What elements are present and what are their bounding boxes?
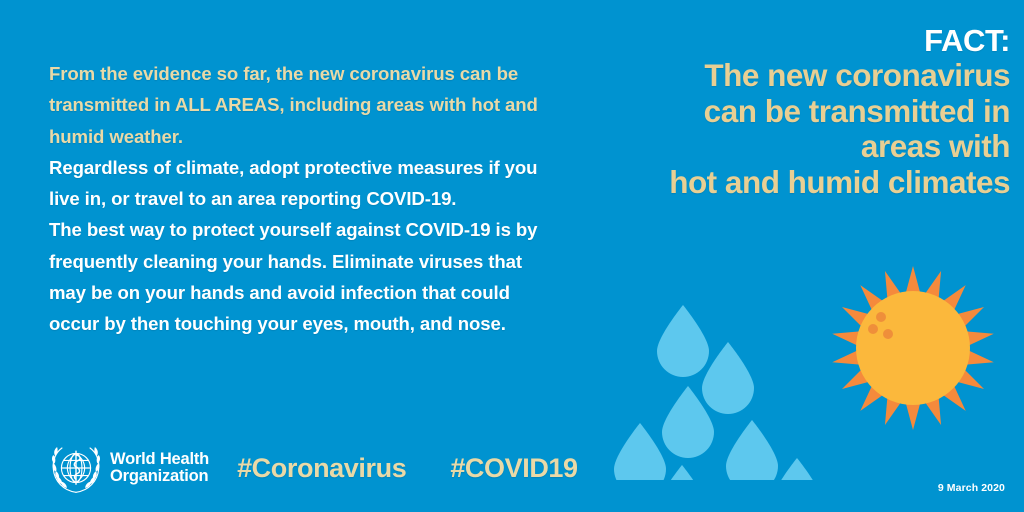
who-wordmark: World Health Organization bbox=[110, 451, 209, 486]
who-emblem-icon bbox=[49, 441, 103, 495]
sun-spot-dot bbox=[876, 312, 886, 322]
headline-block: FACT: The new coronavirus can be transmi… bbox=[570, 24, 1010, 200]
raindrop-group bbox=[614, 305, 823, 480]
raindrop-icon bbox=[702, 342, 754, 414]
headline-line-1: The new coronavirus bbox=[570, 58, 1010, 94]
who-wordmark-line-2: Organization bbox=[110, 468, 209, 486]
body-copy-block: From the evidence so far, the new corona… bbox=[49, 58, 549, 340]
hashtag-covid19[interactable]: #COVID19 bbox=[450, 453, 577, 484]
headline-line-3: areas with bbox=[570, 129, 1010, 165]
who-logo-lockup: World Health Organization bbox=[49, 441, 209, 495]
who-fact-infographic: From the evidence so far, the new corona… bbox=[0, 0, 1024, 512]
body-paragraph-1: From the evidence so far, the new corona… bbox=[49, 58, 549, 152]
footer-bar: World Health Organization #Coronavirus #… bbox=[49, 441, 578, 495]
raindrop-icon bbox=[726, 420, 778, 480]
body-paragraph-2: Regardless of climate, adopt protective … bbox=[49, 152, 549, 215]
raindrop-icon bbox=[771, 458, 823, 480]
hashtag-coronavirus[interactable]: #Coronavirus bbox=[237, 453, 406, 484]
fact-label: FACT: bbox=[570, 24, 1010, 58]
weather-illustration bbox=[600, 210, 1024, 480]
sun-disc bbox=[856, 291, 970, 405]
sun-icon bbox=[832, 266, 994, 430]
raindrop-icon bbox=[614, 423, 666, 480]
sun-spot-dot bbox=[883, 329, 893, 339]
date-stamp: 9 March 2020 bbox=[938, 482, 1005, 494]
headline-line-2: can be transmitted in bbox=[570, 94, 1010, 130]
sun-spot-dot bbox=[868, 324, 878, 334]
raindrop-icon bbox=[657, 305, 709, 377]
headline-line-4: hot and humid climates bbox=[570, 165, 1010, 201]
body-paragraph-3: The best way to protect yourself against… bbox=[49, 214, 549, 339]
who-wordmark-line-1: World Health bbox=[110, 451, 209, 469]
